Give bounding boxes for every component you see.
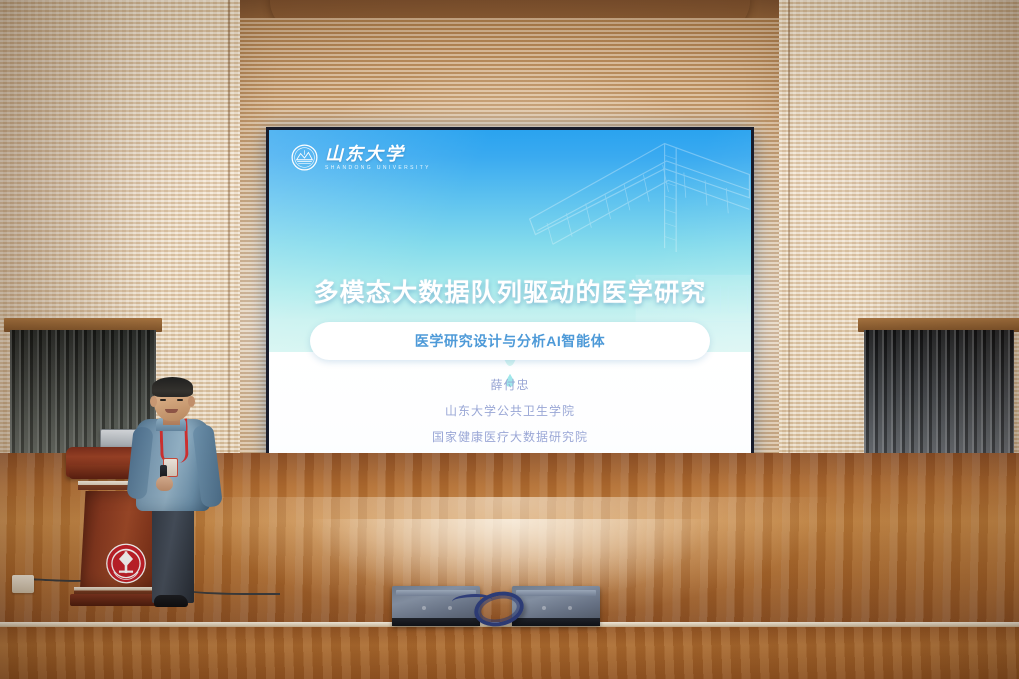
slide-subtitle: 医学研究设计与分析AI智能体 [415, 333, 605, 349]
stage-front-panel [0, 627, 1019, 679]
presenter-hair [152, 377, 193, 397]
presenter-name: 薛付忠 [269, 376, 751, 393]
affiliation-line-1: 山东大学公共卫生学院 [269, 402, 751, 419]
lecture-hall-scene: 山东大学 SHANDONG UNIVERSITY 多模态大数据队列驱动的医学研究… [0, 0, 1019, 679]
university-logo: 山东大学 SHANDONG UNIVERSITY [291, 144, 431, 171]
presenter-ear-left [150, 396, 157, 407]
university-name-cn: 山东大学 [325, 145, 431, 163]
presenter-figure [130, 375, 216, 603]
monitor-grille-right [516, 590, 596, 596]
presenter-eye-left [160, 399, 166, 401]
affiliation-line-2: 国家健康医疗大数据研究院 [269, 428, 751, 445]
projection-screen[interactable]: 山东大学 SHANDONG UNIVERSITY 多模态大数据队列驱动的医学研究… [266, 127, 754, 485]
slide-title: 多模态大数据队列驱动的医学研究 [269, 273, 751, 309]
slide-subtitle-pill: 医学研究设计与分析AI智能体 [310, 322, 710, 360]
presenter-shoe [154, 595, 188, 607]
monitor-screw-r1 [542, 606, 546, 610]
university-logo-text: 山东大学 SHANDONG UNIVERSITY [325, 145, 431, 171]
shandong-university-seal-icon [291, 144, 318, 171]
presenter-mouth [165, 409, 178, 413]
monitor-screw-r2 [568, 606, 572, 610]
presenter-eye-right [177, 399, 183, 401]
presenter-hand [156, 476, 173, 491]
floor-monitor-right [512, 586, 600, 626]
slide-surface: 山东大学 SHANDONG UNIVERSITY 多模态大数据队列驱动的医学研究… [269, 130, 751, 482]
floor-box-icon [12, 575, 34, 593]
monitor-screw-l1 [422, 606, 426, 610]
presenter-ear-right [188, 396, 195, 407]
university-name-en: SHANDONG UNIVERSITY [325, 166, 431, 171]
